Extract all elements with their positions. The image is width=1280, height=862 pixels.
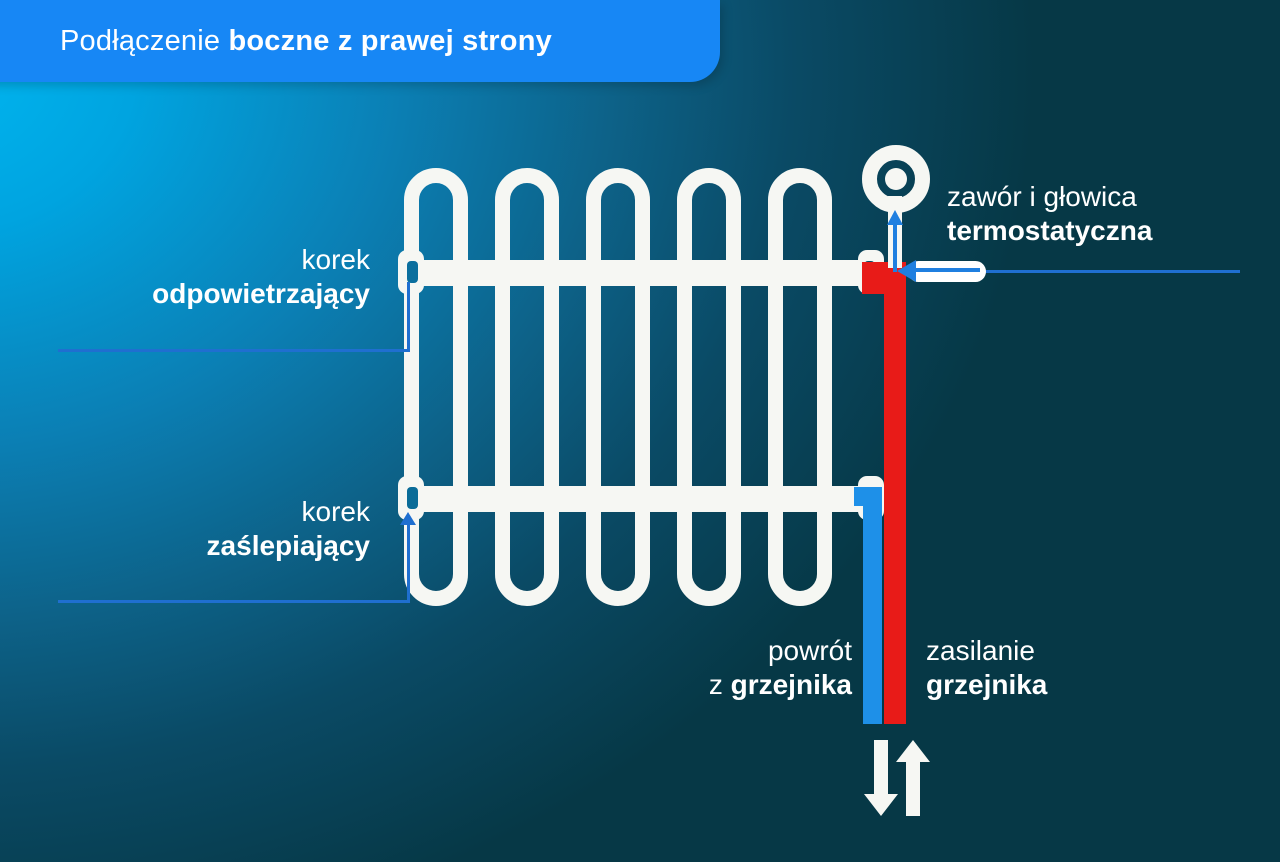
leader-arrow-thermostatic-valve-icon bbox=[897, 260, 916, 282]
label-vent-plug-line1: korek bbox=[0, 243, 370, 277]
label-blind-plug: korek zaślepiający bbox=[0, 495, 370, 563]
label-return-pipe-line1: powrót bbox=[600, 634, 852, 668]
label-vent-plug: korek odpowietrzający bbox=[0, 243, 370, 311]
arrow-up-icon bbox=[896, 740, 930, 762]
radiator-fin bbox=[677, 168, 741, 606]
label-return-pipe-line2-light: z bbox=[709, 669, 731, 700]
label-vent-plug-line2: odpowietrzający bbox=[0, 277, 370, 311]
label-supply-pipe-line1: zasilanie bbox=[926, 634, 1047, 668]
radiator-graphic bbox=[404, 168, 884, 606]
label-blind-plug-line2: zaślepiający bbox=[0, 529, 370, 563]
supply-pipe bbox=[884, 262, 906, 724]
title-text: Podłączenie boczne z prawej strony bbox=[60, 25, 552, 58]
label-return-pipe-line2-bold: grzejnika bbox=[731, 669, 852, 700]
radiator-fin bbox=[404, 168, 468, 606]
radiator-fin bbox=[768, 168, 832, 606]
thermostatic-head-center-icon bbox=[885, 168, 907, 190]
infographic-canvas: Podłączenie boczne z prawej strony korek… bbox=[0, 0, 1280, 862]
radiator-top-header bbox=[412, 260, 876, 286]
leader-line-vent-plug-riser bbox=[407, 282, 410, 352]
vent-plug-nub bbox=[398, 250, 424, 294]
label-supply-pipe-line2: grzejnika bbox=[926, 668, 1047, 702]
leader-arrow-shaft-thermostatic-valve bbox=[914, 268, 980, 272]
title-banner: Podłączenie boczne z prawej strony bbox=[0, 0, 720, 82]
leader-line-blind-plug-riser bbox=[407, 524, 410, 602]
nub-hole bbox=[407, 487, 418, 509]
flow-arrow-up bbox=[893, 740, 933, 816]
flow-arrow-down-shaft bbox=[874, 740, 888, 796]
leader-line-vent-plug bbox=[58, 349, 410, 352]
label-return-pipe: powrót z grzejnika bbox=[600, 634, 852, 702]
return-pipe bbox=[863, 487, 882, 724]
valve-flow-arrow-icon bbox=[887, 210, 903, 225]
nub-hole bbox=[407, 261, 418, 283]
label-thermostatic-valve: zawór i głowica termostatyczna bbox=[947, 180, 1152, 248]
label-supply-pipe: zasilanie grzejnika bbox=[926, 634, 1047, 702]
radiator-fin bbox=[586, 168, 650, 606]
leader-line-thermostatic-valve bbox=[975, 270, 1240, 273]
label-thermostatic-valve-line1: zawór i głowica bbox=[947, 180, 1152, 214]
leader-arrow-blind-plug-icon bbox=[400, 512, 416, 525]
leader-line-blind-plug bbox=[58, 600, 410, 603]
title-light-part: Podłączenie bbox=[60, 25, 228, 57]
title-bold-part: boczne z prawej strony bbox=[228, 25, 551, 57]
label-thermostatic-valve-line2: termostatyczna bbox=[947, 214, 1152, 248]
radiator-fin bbox=[495, 168, 559, 606]
radiator-bottom-header bbox=[412, 486, 876, 512]
label-return-pipe-line2: z grzejnika bbox=[600, 668, 852, 702]
label-blind-plug-line1: korek bbox=[0, 495, 370, 529]
flow-arrow-up-shaft bbox=[906, 760, 920, 816]
